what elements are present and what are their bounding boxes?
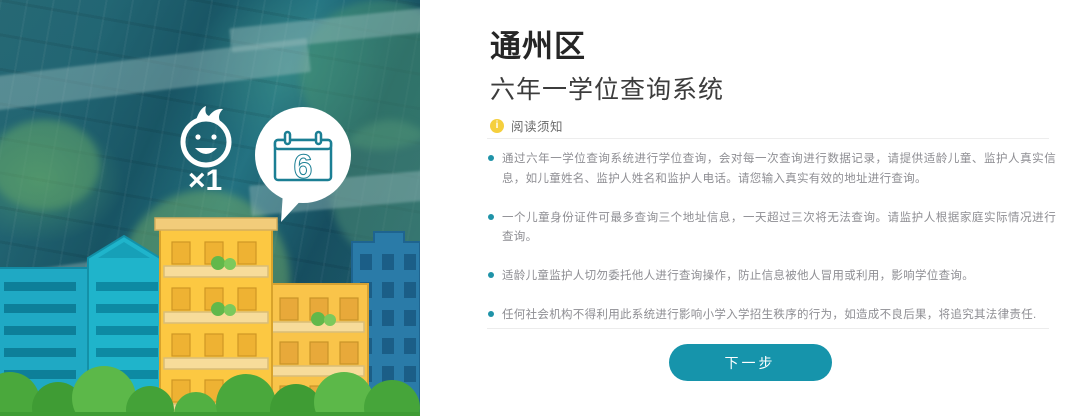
notice-label: 阅读须知 <box>511 116 563 135</box>
list-item-text: 适龄儿童监护人切勿委托他人进行查询操作，防止信息被他人冒用或利用，影响学位查询。 <box>502 267 974 287</box>
list-item: 一个儿童身份证件可最多查询三个地址信息，一天超过三次将无法查询。请监护人根据家庭… <box>488 209 1056 249</box>
notice-list: 通过六年一学位查询系统进行学位查询，会对每一次查询进行数据记录，请提供适龄儿童、… <box>488 150 1056 345</box>
page-root: ×1 6 通州区 六年一学位查询系统 i 阅读须知 <box>0 0 1080 416</box>
city-skyline-illustration <box>0 206 420 416</box>
content-panel: 通州区 六年一学位查询系统 i 阅读须知 通过六年一学位查询系统进行学位查询，会… <box>420 0 1080 416</box>
list-item-text: 任何社会机构不得利用此系统进行影响小学入学招生秩序的行为，如造成不良后果，将追究… <box>502 306 1037 326</box>
bullet-dot <box>488 214 494 220</box>
list-item: 任何社会机构不得利用此系统进行影响小学入学招生秩序的行为，如造成不良后果，将追究… <box>488 306 1056 326</box>
page-subtitle: 六年一学位查询系统 <box>490 75 724 105</box>
page-title: 通州区 <box>490 28 586 65</box>
list-item-text: 一个儿童身份证件可最多查询三个地址信息，一天超过三次将无法查询。请监护人根据家庭… <box>502 209 1056 249</box>
action-bar: 下一步 <box>420 344 1080 381</box>
next-step-button[interactable]: 下一步 <box>669 344 832 381</box>
bullet-dot <box>488 272 494 278</box>
list-item: 通过六年一学位查询系统进行学位查询，会对每一次查询进行数据记录，请提供适龄儿童、… <box>488 150 1056 190</box>
bullet-dot <box>488 155 494 161</box>
info-icon: i <box>490 119 504 133</box>
bullet-dot <box>488 311 494 317</box>
notice-heading: i 阅读须知 <box>490 116 563 135</box>
illustration-panel: ×1 6 <box>0 0 420 416</box>
list-item: 适龄儿童监护人切勿委托他人进行查询操作，防止信息被他人冒用或利用，影响学位查询。 <box>488 267 1056 287</box>
list-item-text: 通过六年一学位查询系统进行学位查询，会对每一次查询进行数据记录，请提供适龄儿童、… <box>502 150 1056 190</box>
divider-top <box>487 138 1049 139</box>
divider-bottom <box>487 328 1049 329</box>
